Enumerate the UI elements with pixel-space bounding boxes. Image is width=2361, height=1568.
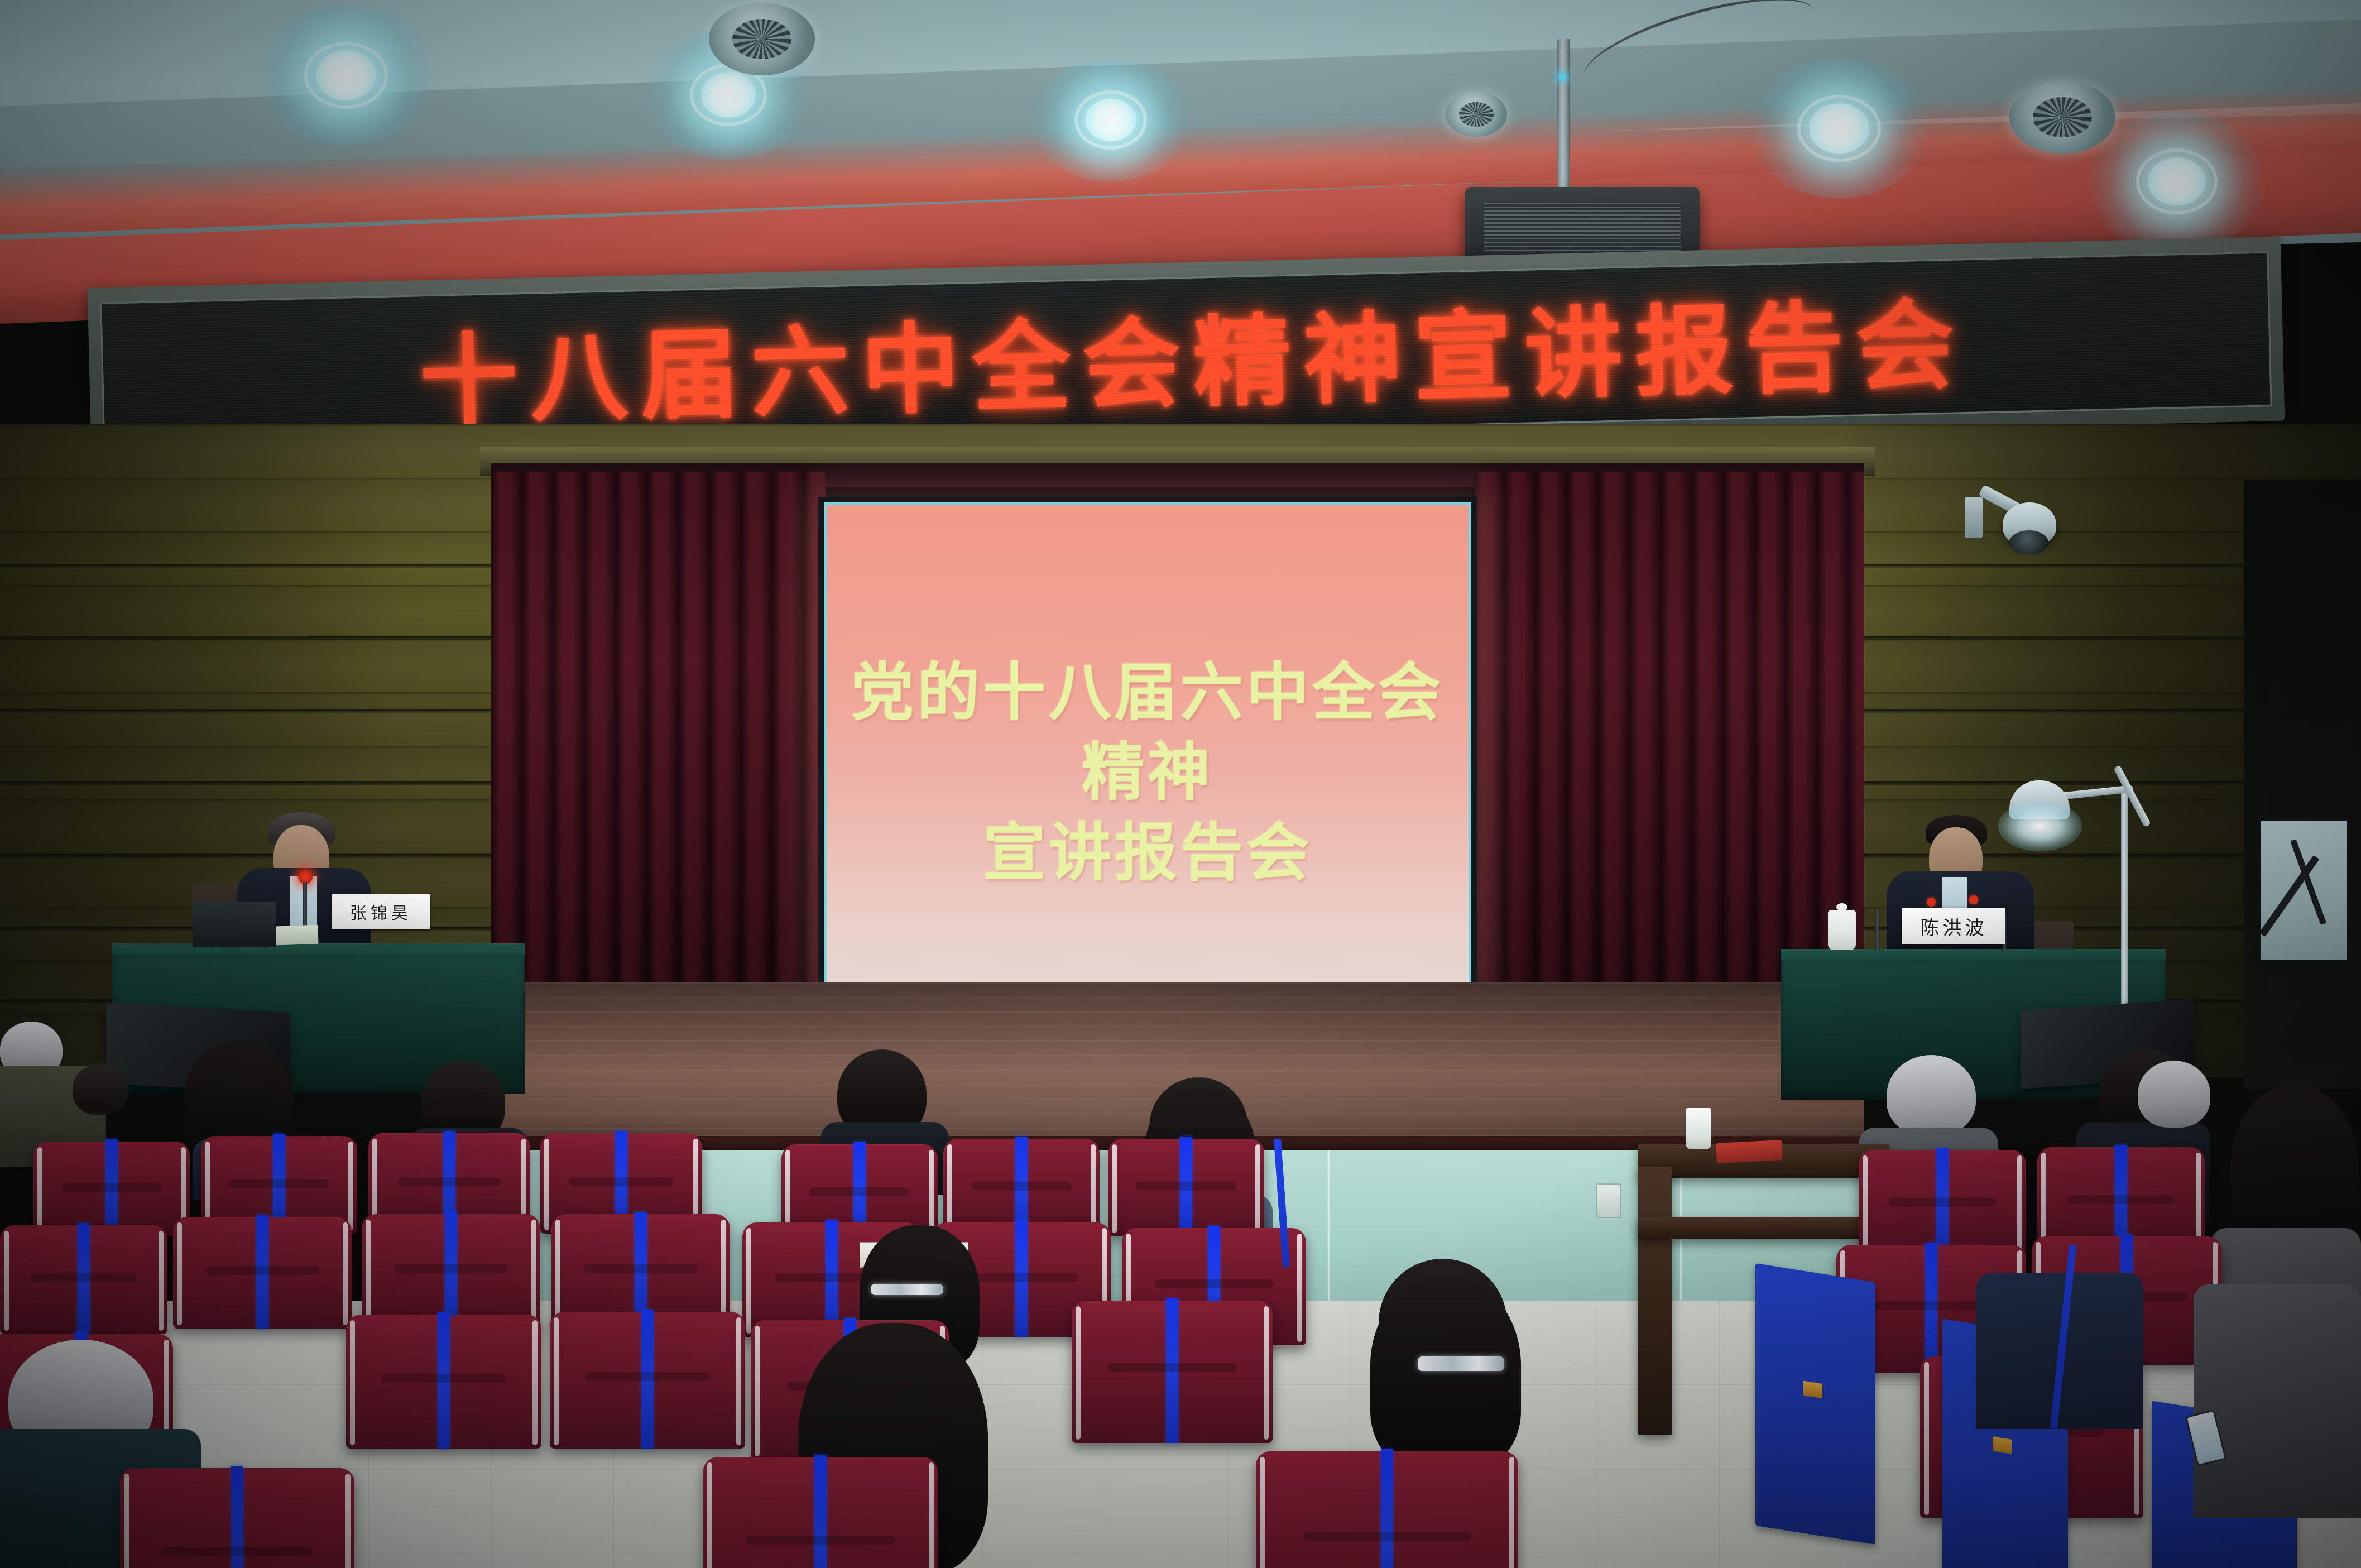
stage-panel-seam-2 [1328,1150,1330,1317]
hair-clip-2 [1418,1356,1504,1371]
seat-c3[interactable] [550,1312,745,1449]
projector-status-led [1559,74,1566,80]
stage-curtain-left [491,472,826,1008]
audience-torso-right-6 [2194,1284,2361,1518]
ceiling-spotlight-1 [254,6,438,145]
seat-d1[interactable] [120,1468,354,1568]
stage-curtain-right [1474,472,1864,1008]
right-official-lapel-pin-right [1969,895,1978,904]
right-nameplate: 陈洪波 [1902,908,2005,944]
seat-frame-blue-1[interactable] [1755,1263,1875,1545]
seat-c2[interactable] [346,1315,541,1449]
projection-screen-surface: 党的十八届六中全会精神 宣讲报告会 [824,502,1471,985]
led-banner-text: 十八届六中全会精神宣讲报告会 [404,265,1967,444]
wall-socket [1596,1183,1621,1218]
side-desk-notebook [1716,1140,1783,1163]
auditorium-photo: 十八届六中全会精神宣讲报告会 党的十八届六中全会精神 宣讲报告会 [0,0,2361,1568]
seat-d3[interactable] [1256,1451,1518,1568]
projection-screen: 党的十八届六中全会精神 宣讲报告会 [818,497,1477,991]
seat-a7[interactable] [1108,1139,1264,1236]
right-official-lapel-pin-left [1927,898,1936,907]
right-podium-mic-1 [1875,910,1879,950]
seat-c5[interactable] [1072,1301,1273,1443]
left-table-laptop [193,902,276,947]
left-nameplate: 张锦昊 [332,894,430,929]
slide-text-block: 党的十八届六中全会精神 宣讲报告会 [827,653,1469,893]
projector-mount-pole [1557,39,1570,195]
slide-title-line-1: 党的十八届六中全会精神 [827,653,1469,813]
seat-a8[interactable] [1859,1150,2026,1259]
ceiling-spotlight-5 [2085,112,2269,251]
hair-clip-1 [871,1284,943,1295]
ceiling-spotlight-4 [1747,59,1931,198]
audience-head-right-3 [2138,1061,2210,1128]
seat-b3[interactable] [362,1214,540,1329]
right-table-teacup [1828,910,1856,950]
seat-d2[interactable] [703,1457,938,1568]
side-desk-cup [1686,1108,1711,1149]
air-vent-2 [2009,81,2115,154]
desk-lamp-pole [2121,793,2128,1016]
desk-lamp-glow [1998,801,2082,851]
seat-b2[interactable] [173,1217,352,1329]
audience-head-far-left-2 [73,1063,128,1115]
audience-head-right-1 [1887,1055,1976,1136]
camera-lens [2009,530,2048,555]
doorway-backlight [2261,821,2347,960]
side-desk-leg-left [1638,1167,1672,1435]
ceiling-spotlight-3 [1030,59,1192,181]
air-vent-1 [709,3,815,75]
side-desk-shelf [1638,1217,1889,1239]
seat-a1[interactable] [33,1142,190,1236]
slide-title-line-2: 宣讲报告会 [827,813,1469,893]
side-doorway [2244,480,2361,1089]
camera-wall-mount [1965,497,1983,538]
seat-b1[interactable] [0,1225,167,1334]
air-vent-3 [1446,92,1507,137]
projector-vent-grille [1484,203,1681,252]
audience-hair-row2-b [1370,1278,1521,1468]
